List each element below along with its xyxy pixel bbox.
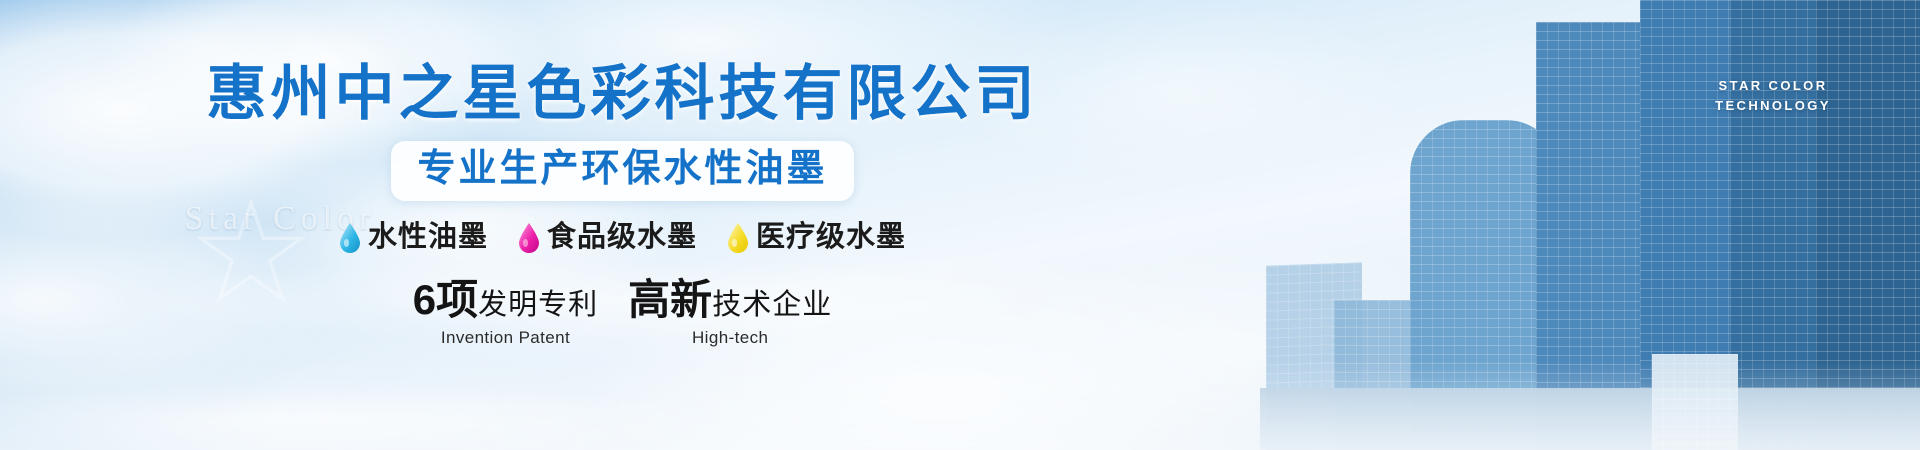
building-podium-base xyxy=(1260,388,1920,450)
badge-rest: 技术企业 xyxy=(712,289,832,321)
promotional-banner: Star Color STAR COLOR TECHNOLOGY 惠州中之星色彩… xyxy=(0,0,1920,450)
corner-brand-line-2: TECHNOLOGY xyxy=(1698,96,1848,116)
badge-english-text: Invention Patent xyxy=(413,328,598,348)
water-drop-icon xyxy=(518,223,540,253)
feature-label: 食品级水墨 xyxy=(547,223,697,252)
building-tower-tall-c xyxy=(1730,0,1826,450)
feature-item: 食品级水墨 xyxy=(518,223,697,253)
building-tower-right-edge xyxy=(1816,0,1920,450)
badge-invention-patent: 6项发明专利 Invention Patent xyxy=(413,279,598,348)
subtitle-text: 专业生产环保水性油墨 xyxy=(417,148,827,192)
company-title: 惠州中之星色彩科技有限公司 xyxy=(207,60,1039,127)
corner-brand-line-1: STAR COLOR xyxy=(1698,76,1848,96)
badge-rest: 发明专利 xyxy=(478,289,598,321)
water-drop-icon xyxy=(339,223,361,253)
building-tower-tall-a xyxy=(1536,22,1654,450)
feature-label: 水性油墨 xyxy=(368,223,488,252)
city-skyline-graphic xyxy=(1260,0,1920,450)
banner-content: 惠州中之星色彩科技有限公司 专业生产环保水性油墨 水性油墨 xyxy=(0,0,1245,450)
subtitle-pill: 专业生产环保水性油墨 xyxy=(391,141,853,201)
badge-highlight: 6项 xyxy=(413,276,478,323)
badge-high-tech: 高新技术企业 High-tech xyxy=(628,279,832,348)
feature-item: 医疗级水墨 xyxy=(727,223,906,253)
feature-label: 医疗级水墨 xyxy=(756,223,906,252)
badge-english-text: High-tech xyxy=(628,328,832,348)
feature-list: 水性油墨 食品级水墨 xyxy=(339,223,906,253)
water-drop-icon xyxy=(727,223,749,253)
badge-highlight: 高新 xyxy=(628,276,712,323)
feature-item: 水性油墨 xyxy=(339,223,488,253)
corner-brand-label: STAR COLOR TECHNOLOGY xyxy=(1698,76,1848,116)
credential-badges: 6项发明专利 Invention Patent 高新技术企业 High-tech xyxy=(413,279,832,348)
building-foreground-block xyxy=(1652,354,1738,450)
badge-chinese-text: 高新技术企业 xyxy=(628,279,832,321)
badge-chinese-text: 6项发明专利 xyxy=(413,279,598,321)
